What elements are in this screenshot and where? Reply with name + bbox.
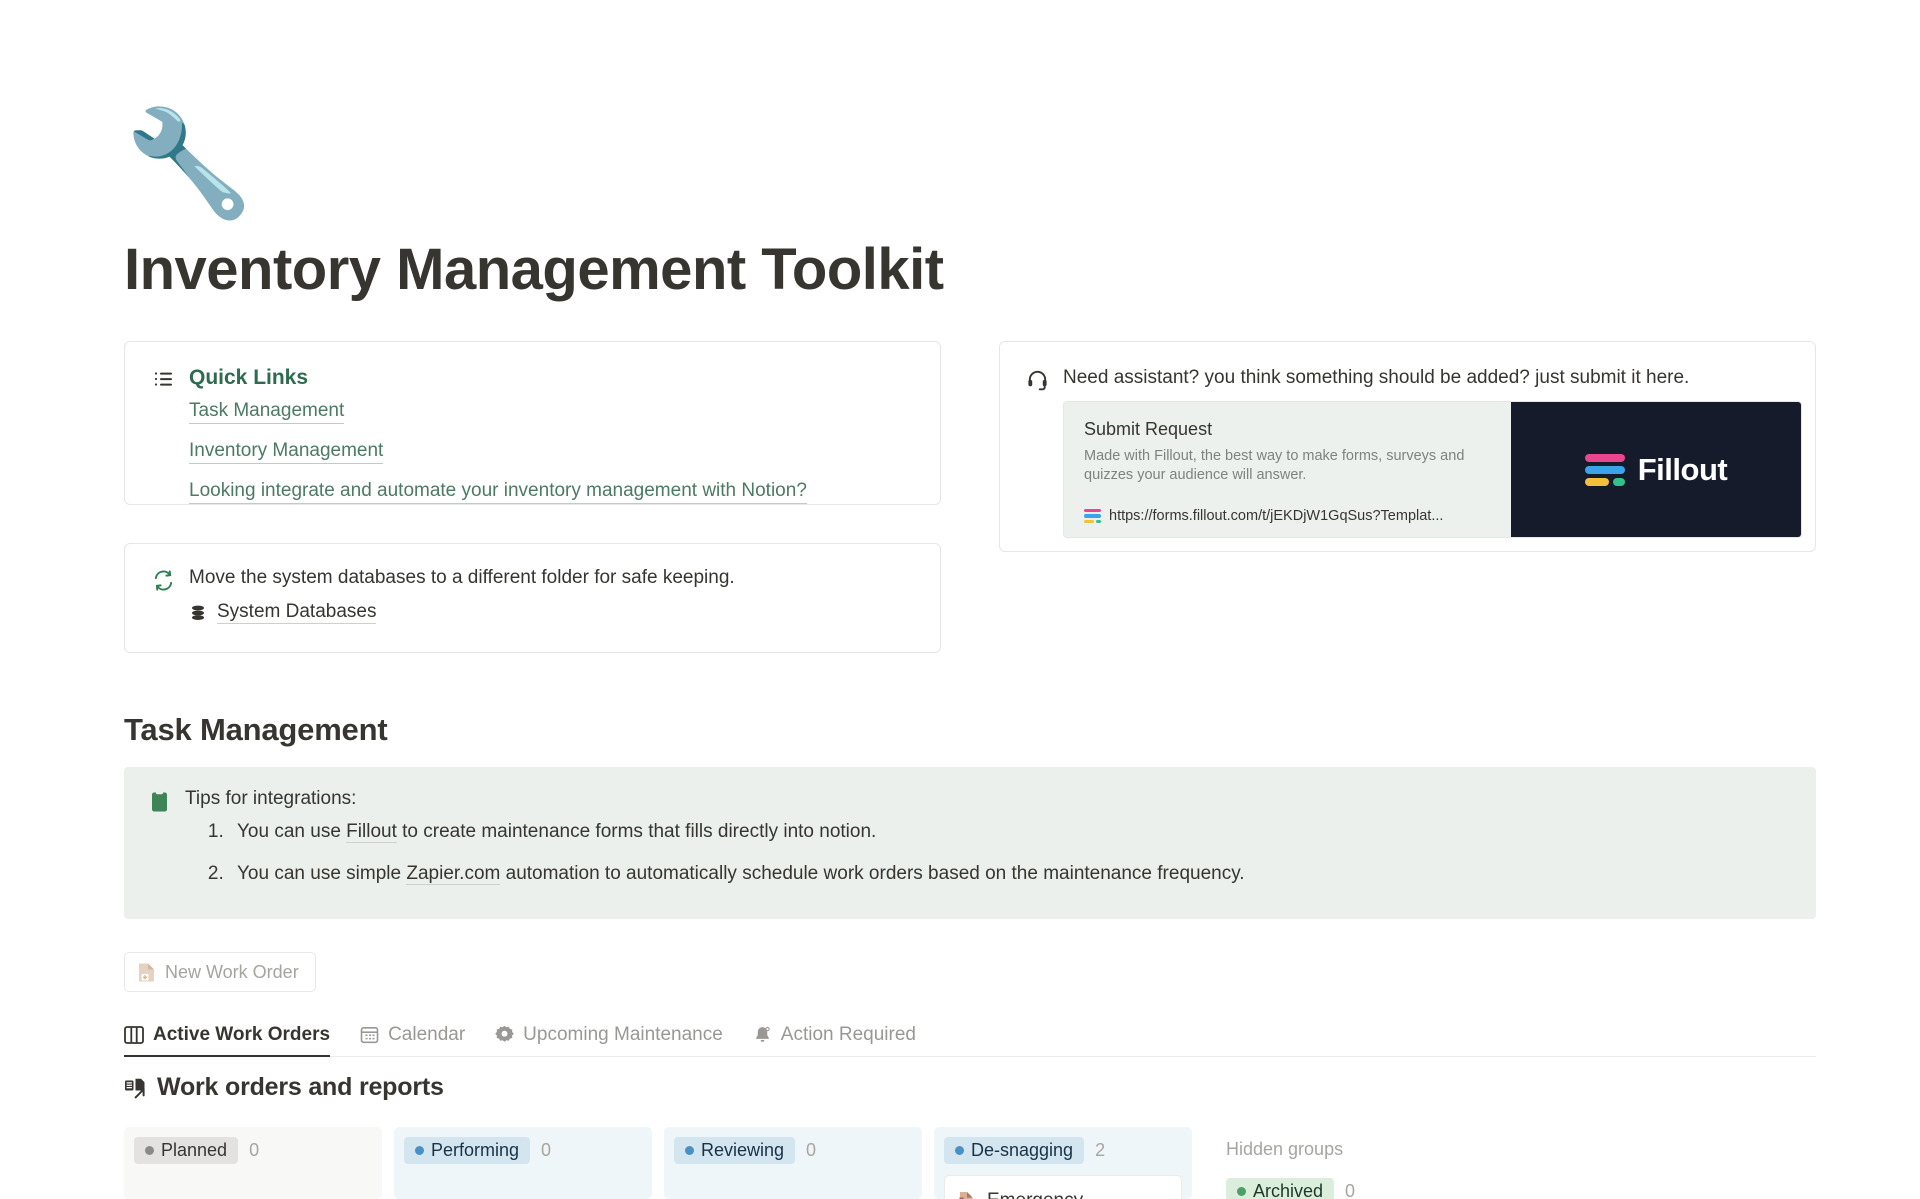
quick-links-card: Quick Links Task Management Inventory Ma…: [124, 341, 941, 505]
board-column-performing: Performing 0: [394, 1127, 652, 1199]
tab-action-required[interactable]: Action Required: [753, 1013, 930, 1056]
fillout-logo-icon: [1585, 454, 1625, 486]
board-column-de-snagging: De-snagging 2 Emergency: [934, 1127, 1192, 1199]
quick-link-inventory-management[interactable]: Inventory Management: [189, 440, 383, 464]
swap-arrows-icon: [150, 567, 176, 593]
status-dot: [1237, 1187, 1246, 1196]
new-work-order-label: New Work Order: [165, 962, 299, 982]
column-count-de-snagging: 2: [1095, 1140, 1105, 1161]
fillout-brand-panel: Fillout: [1511, 402, 1801, 537]
status-chip-label: De-snagging: [971, 1137, 1073, 1164]
fillout-wordmark: Fillout: [1638, 452, 1727, 488]
system-databases-link[interactable]: System Databases: [217, 601, 376, 624]
tab-label-calendar: Calendar: [388, 1024, 465, 1046]
system-databases-card: Move the system databases to a different…: [124, 543, 941, 653]
board-column-planned: Planned 0: [124, 1127, 382, 1199]
assistance-card: Need assistant? you think something shou…: [999, 341, 1816, 552]
linked-database-icon: [124, 1077, 146, 1099]
calendar-icon: [360, 1025, 379, 1044]
board-card-label: Emergency: [987, 1190, 1083, 1199]
tips-item-1-after: to create maintenance forms that fills d…: [397, 821, 876, 842]
tab-label-upcoming-maintenance: Upcoming Maintenance: [523, 1024, 723, 1046]
quick-links-list: Task Management Inventory Management Loo…: [189, 391, 940, 504]
bookmark-details: Submit Request Made with Fillout, the be…: [1064, 402, 1511, 537]
bookmark-url: https://forms.fillout.com/t/jEKDjW1GqSus…: [1109, 507, 1443, 525]
bell-icon: [753, 1025, 772, 1044]
kanban-board: Planned 0 Performing 0 Reviewing 0: [124, 1127, 1824, 1199]
board-column-reviewing: Reviewing 0: [664, 1127, 922, 1199]
fillout-bookmark[interactable]: Submit Request Made with Fillout, the be…: [1063, 401, 1802, 538]
board-icon: [124, 1026, 144, 1044]
hidden-groups-title: Hidden groups: [1226, 1137, 1504, 1161]
tab-upcoming-maintenance[interactable]: Upcoming Maintenance: [495, 1013, 737, 1056]
tips-item-2-link[interactable]: Zapier.com: [406, 863, 500, 885]
status-chip-de-snagging[interactable]: De-snagging: [944, 1137, 1084, 1164]
headset-icon: [1024, 366, 1050, 392]
status-chip-label: Planned: [161, 1137, 227, 1164]
notion-page: 🔧 Inventory Management Toolkit Quick Lin…: [0, 0, 1920, 1199]
tips-item-2-after: automation to automatically schedule wor…: [500, 863, 1244, 884]
tab-active-work-orders[interactable]: Active Work Orders: [124, 1013, 344, 1056]
board-title[interactable]: Work orders and reports: [124, 1073, 444, 1102]
assistance-text: Need assistant? you think something shou…: [1063, 365, 1815, 390]
quick-link-task-management[interactable]: Task Management: [189, 400, 344, 424]
hidden-group-count-archived: 0: [1345, 1181, 1355, 1199]
fillout-favicon-icon: [1084, 509, 1101, 523]
status-dot: [685, 1146, 694, 1155]
work-order-icon: [958, 1191, 976, 1199]
tips-item-1-before: You can use: [237, 821, 346, 842]
page-icon-wrench[interactable]: 🔧: [124, 104, 244, 224]
database-icon: [189, 604, 207, 622]
view-tabs: Active Work Orders Calendar Upcoming Mai…: [124, 1013, 1816, 1057]
tips-item-1-link[interactable]: Fillout: [346, 821, 397, 843]
bulleted-list-icon: [150, 366, 176, 392]
bookmark-title: Submit Request: [1084, 418, 1495, 440]
quick-links-heading: Quick Links: [189, 365, 940, 391]
gear-icon: [495, 1025, 514, 1044]
new-work-order-button[interactable]: New Work Order: [124, 952, 316, 992]
status-chip-label: Archived: [1253, 1178, 1323, 1199]
tips-item-1: You can use Fillout to create maintenanc…: [229, 820, 1792, 844]
status-dot: [955, 1146, 964, 1155]
status-chip-performing[interactable]: Performing: [404, 1137, 530, 1164]
tips-heading: Tips for integrations:: [185, 787, 1792, 811]
quick-link-notion-automation[interactable]: Looking integrate and automate your inve…: [189, 480, 807, 504]
tips-callout: Tips for integrations: You can use Fillo…: [124, 767, 1816, 919]
column-count-reviewing: 0: [806, 1140, 816, 1161]
column-count-planned: 0: [249, 1140, 259, 1161]
new-page-icon: [137, 962, 156, 983]
tab-label-action-required: Action Required: [781, 1024, 916, 1046]
status-dot: [415, 1146, 424, 1155]
board-title-text: Work orders and reports: [157, 1073, 444, 1102]
column-count-performing: 0: [541, 1140, 551, 1161]
status-chip-label: Performing: [431, 1137, 519, 1164]
tips-item-2-before: You can use simple: [237, 863, 406, 884]
tips-item-2: You can use simple Zapier.com automation…: [229, 862, 1792, 886]
bookmark-description: Made with Fillout, the best way to make …: [1084, 447, 1495, 485]
clipboard-icon: [146, 788, 172, 814]
page-title: Inventory Management Toolkit: [124, 238, 944, 302]
system-databases-text: Move the system databases to a different…: [189, 566, 940, 590]
tips-list: You can use Fillout to create maintenanc…: [229, 820, 1792, 886]
tab-label-active-work-orders: Active Work Orders: [153, 1024, 330, 1046]
tab-calendar[interactable]: Calendar: [360, 1013, 479, 1056]
status-dot: [145, 1146, 154, 1155]
board-card-emergency[interactable]: Emergency: [944, 1175, 1182, 1199]
status-chip-archived[interactable]: Archived: [1226, 1178, 1334, 1199]
task-management-heading: Task Management: [124, 712, 387, 748]
hidden-groups: Hidden groups Archived 0: [1204, 1127, 1504, 1199]
status-chip-planned[interactable]: Planned: [134, 1137, 238, 1164]
status-chip-reviewing[interactable]: Reviewing: [674, 1137, 795, 1164]
status-chip-label: Reviewing: [701, 1137, 784, 1164]
